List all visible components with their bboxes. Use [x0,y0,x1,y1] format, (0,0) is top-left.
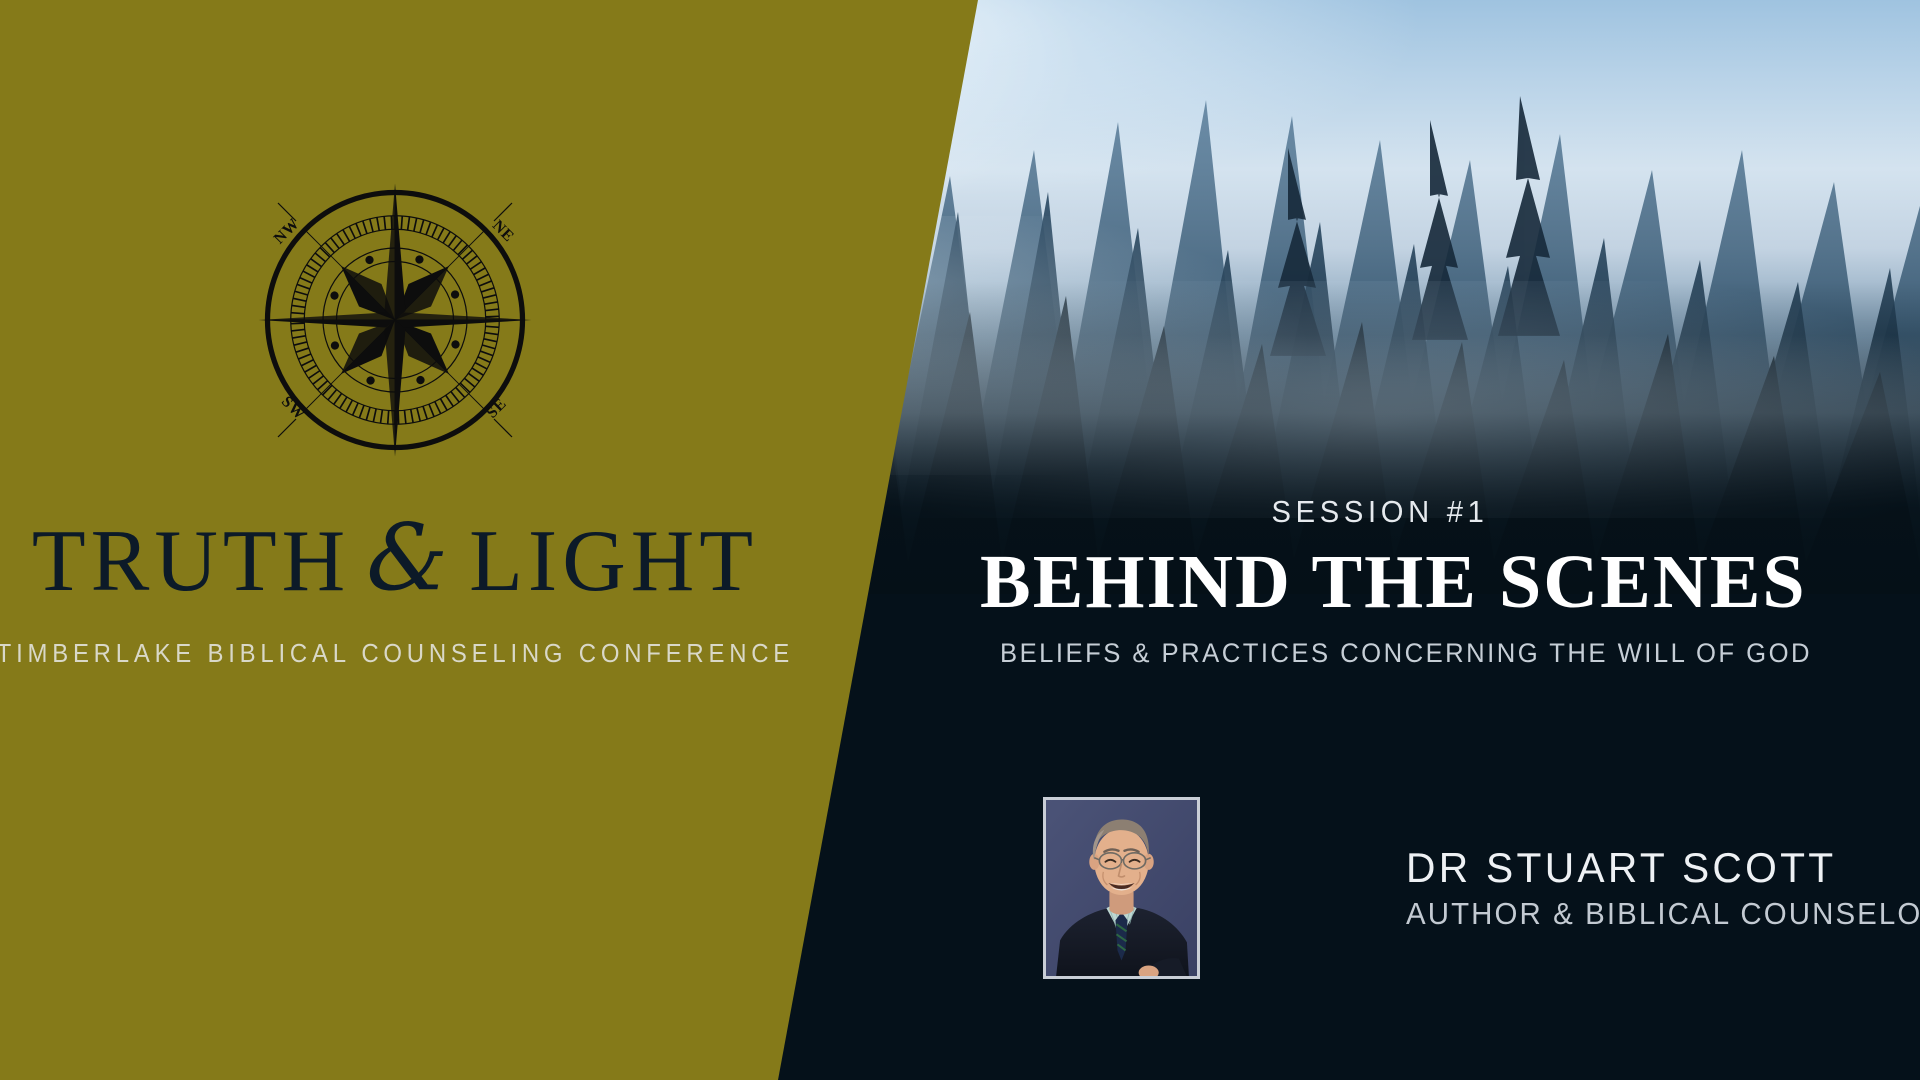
brand-ampersand: & [350,512,469,604]
speaker-portrait-frame [1043,797,1200,979]
session-subtitle: BELIEFS & PRACTICES CONCERNING THE WILL … [1000,638,1760,669]
speaker-name: DR STUART SCOTT [1406,844,1920,892]
session-kicker: SESSION #1 [1004,494,1756,530]
brand-block: NW NE SW SE TRUTH & LIGHT TIMBERLAKE BIB… [0,0,790,1080]
svg-text:SW: SW [278,393,308,423]
brand-title-light: LIGHT [469,518,758,606]
speaker-role: AUTHOR & BIBLICAL COUNSELOR [1406,896,1920,932]
svg-text:NW: NW [271,215,303,247]
session-text-block: SESSION #1 BEHIND THE SCENES BELIEFS & P… [980,494,1780,669]
brand-subtitle: TIMBERLAKE BIBLICAL COUNSELING CONFERENC… [0,638,794,669]
speaker-headshot-image [1046,800,1197,976]
speaker-text: DR STUART SCOTT AUTHOR & BIBLICAL COUNSE… [1406,844,1920,932]
brand-title: TRUTH & LIGHT [32,516,758,608]
speaker-block: DR STUART SCOTT AUTHOR & BIBLICAL COUNSE… [1043,797,1920,979]
session-title: BEHIND THE SCENES [980,544,1780,620]
compass-rose-icon: NW NE SW SE [245,170,545,470]
svg-text:SE: SE [483,395,510,422]
conference-title-slide: NW NE SW SE TRUTH & LIGHT TIMBERLAKE BIB… [0,0,1920,1080]
brand-title-truth: TRUTH [32,518,350,606]
